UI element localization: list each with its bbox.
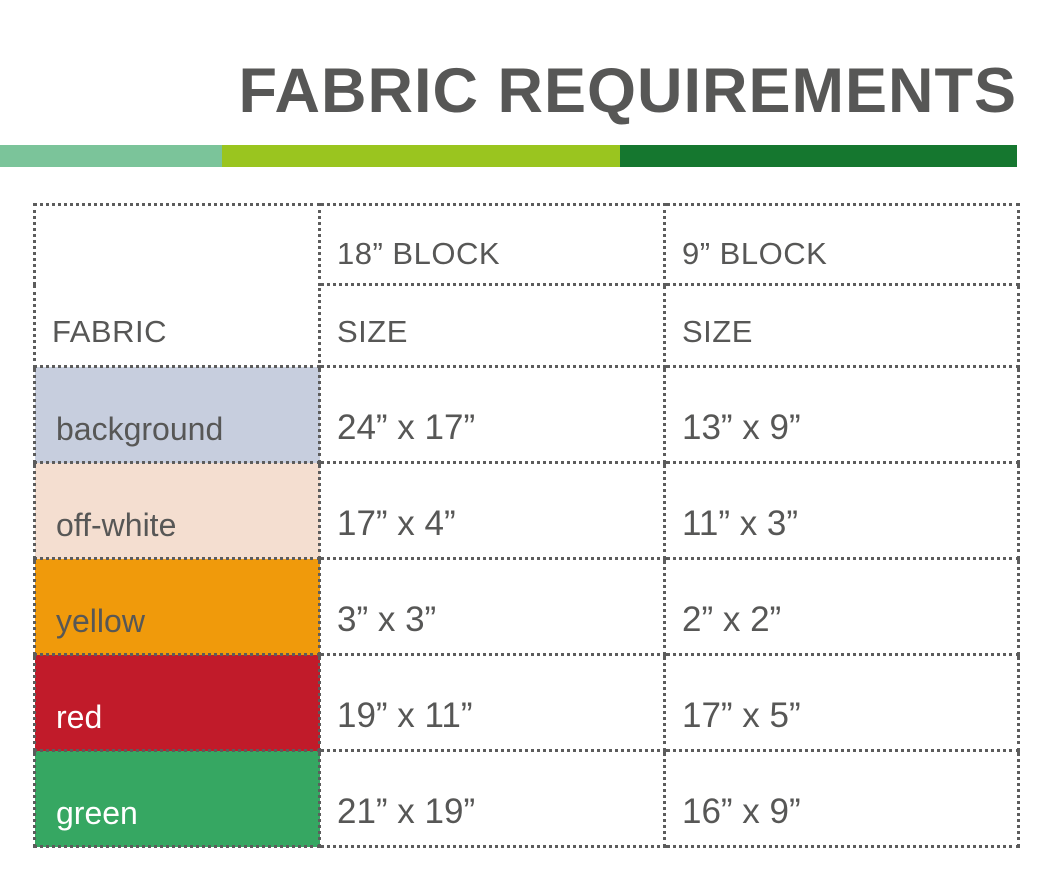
size-cell-18-block: 3” x 3” xyxy=(320,559,665,655)
table-header-row-title: FABRIC 18” BLOCK 9” BLOCK xyxy=(35,205,1019,285)
size-cell-18-block: 19” x 11” xyxy=(320,655,665,751)
accent-segment-lime-green xyxy=(222,145,620,167)
fabric-requirements-table: FABRIC 18” BLOCK 9” BLOCK SIZE SIZE back… xyxy=(33,203,1020,848)
page-title: FABRIC REQUIREMENTS xyxy=(238,60,1017,123)
fabric-swatch-cell: yellow xyxy=(35,559,320,655)
size-label-18-block: 19” x 11” xyxy=(321,698,663,749)
size-label-9-block: 2” x 2” xyxy=(666,602,1017,653)
header-label-18-block: 18” BLOCK xyxy=(321,238,663,283)
table-row: red19” x 11”17” x 5” xyxy=(35,655,1019,751)
table-row: off-white17” x 4”11” x 3” xyxy=(35,463,1019,559)
fabric-name-label: yellow xyxy=(36,605,318,653)
fabric-name-label: green xyxy=(36,797,318,845)
header-cell-fabric: FABRIC xyxy=(35,205,320,367)
fabric-name-label: off-white xyxy=(36,509,318,557)
fabric-swatch-cell: green xyxy=(35,751,320,847)
size-cell-9-block: 16” x 9” xyxy=(665,751,1019,847)
size-cell-9-block: 17” x 5” xyxy=(665,655,1019,751)
table-body: background24” x 17”13” x 9”off-white17” … xyxy=(35,367,1019,847)
fabric-swatch-cell: off-white xyxy=(35,463,320,559)
size-cell-9-block: 2” x 2” xyxy=(665,559,1019,655)
size-cell-18-block: 24” x 17” xyxy=(320,367,665,463)
fabric-name-label: red xyxy=(36,701,318,749)
table-row: background24” x 17”13” x 9” xyxy=(35,367,1019,463)
header-label-9-block: 9” BLOCK xyxy=(666,238,1017,283)
size-label-18-block: 24” x 17” xyxy=(321,410,663,461)
fabric-swatch-cell: background xyxy=(35,367,320,463)
fabric-swatch-cell: red xyxy=(35,655,320,751)
header-label-18-size: SIZE xyxy=(321,316,663,365)
size-cell-9-block: 11” x 3” xyxy=(665,463,1019,559)
size-label-9-block: 11” x 3” xyxy=(666,506,1017,557)
size-cell-18-block: 21” x 19” xyxy=(320,751,665,847)
size-label-9-block: 16” x 9” xyxy=(666,794,1017,845)
fabric-name-label: background xyxy=(36,413,318,461)
accent-color-bar xyxy=(0,145,1017,167)
header-cell-18-size: SIZE xyxy=(320,285,665,367)
header-label-fabric: FABRIC xyxy=(36,316,318,365)
header-cell-18-block: 18” BLOCK xyxy=(320,205,665,285)
size-label-18-block: 21” x 19” xyxy=(321,794,663,845)
header-label-9-size: SIZE xyxy=(666,316,1017,365)
title-bar: FABRIC REQUIREMENTS xyxy=(0,60,1017,123)
size-label-18-block: 3” x 3” xyxy=(321,602,663,653)
accent-segment-teal-green xyxy=(0,145,222,167)
size-label-9-block: 13” x 9” xyxy=(666,410,1017,461)
table-row: yellow3” x 3”2” x 2” xyxy=(35,559,1019,655)
size-cell-18-block: 17” x 4” xyxy=(320,463,665,559)
size-cell-9-block: 13” x 9” xyxy=(665,367,1019,463)
header-cell-9-size: SIZE xyxy=(665,285,1019,367)
size-label-9-block: 17” x 5” xyxy=(666,698,1017,749)
accent-segment-dark-green xyxy=(620,145,1017,167)
table-row: green21” x 19”16” x 9” xyxy=(35,751,1019,847)
size-label-18-block: 17” x 4” xyxy=(321,506,663,557)
header-cell-9-block: 9” BLOCK xyxy=(665,205,1019,285)
